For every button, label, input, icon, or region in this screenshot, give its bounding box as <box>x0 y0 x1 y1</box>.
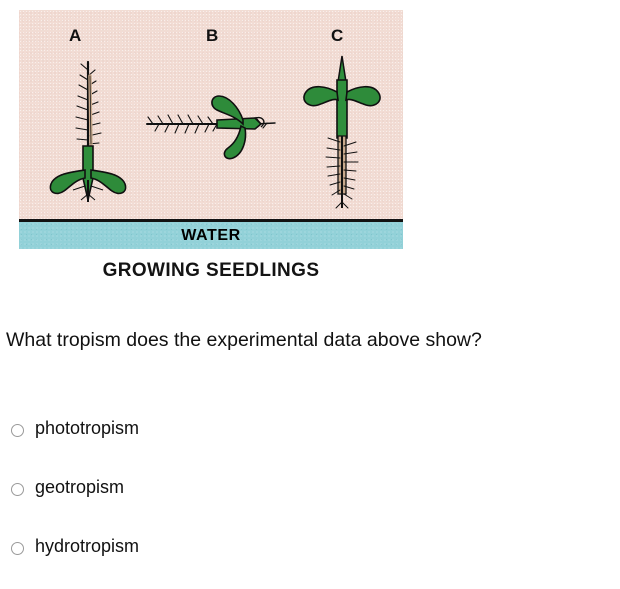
figure-caption: GROWING SEEDLINGS <box>19 260 403 282</box>
seedling-label-a: A <box>69 26 82 46</box>
seedling-label-c: C <box>331 26 344 46</box>
radio-button-icon[interactable] <box>11 424 24 437</box>
question-prompt: What tropism does the experimental data … <box>6 329 618 352</box>
water-label: WATER <box>19 222 403 249</box>
seedling-diagram-c <box>294 52 390 212</box>
answer-options-list: phototropism geotropism hydrotropism <box>0 412 620 589</box>
answer-option-phototropism[interactable]: phototropism <box>0 412 620 471</box>
seedling-diagram-panel: WATER A B C <box>19 10 403 249</box>
answer-option-label: geotropism <box>35 477 124 498</box>
radio-button-icon[interactable] <box>11 542 24 555</box>
answer-option-hydrotropism[interactable]: hydrotropism <box>0 530 620 589</box>
figure-block: WATER A B C <box>19 10 403 282</box>
seedling-diagram-a <box>45 54 131 204</box>
seedling-diagram-b <box>143 84 283 170</box>
answer-option-geotropism[interactable]: geotropism <box>0 471 620 530</box>
seedling-label-b: B <box>206 26 219 46</box>
answer-option-label: hydrotropism <box>35 536 139 557</box>
answer-option-label: phototropism <box>35 418 139 439</box>
radio-button-icon[interactable] <box>11 483 24 496</box>
